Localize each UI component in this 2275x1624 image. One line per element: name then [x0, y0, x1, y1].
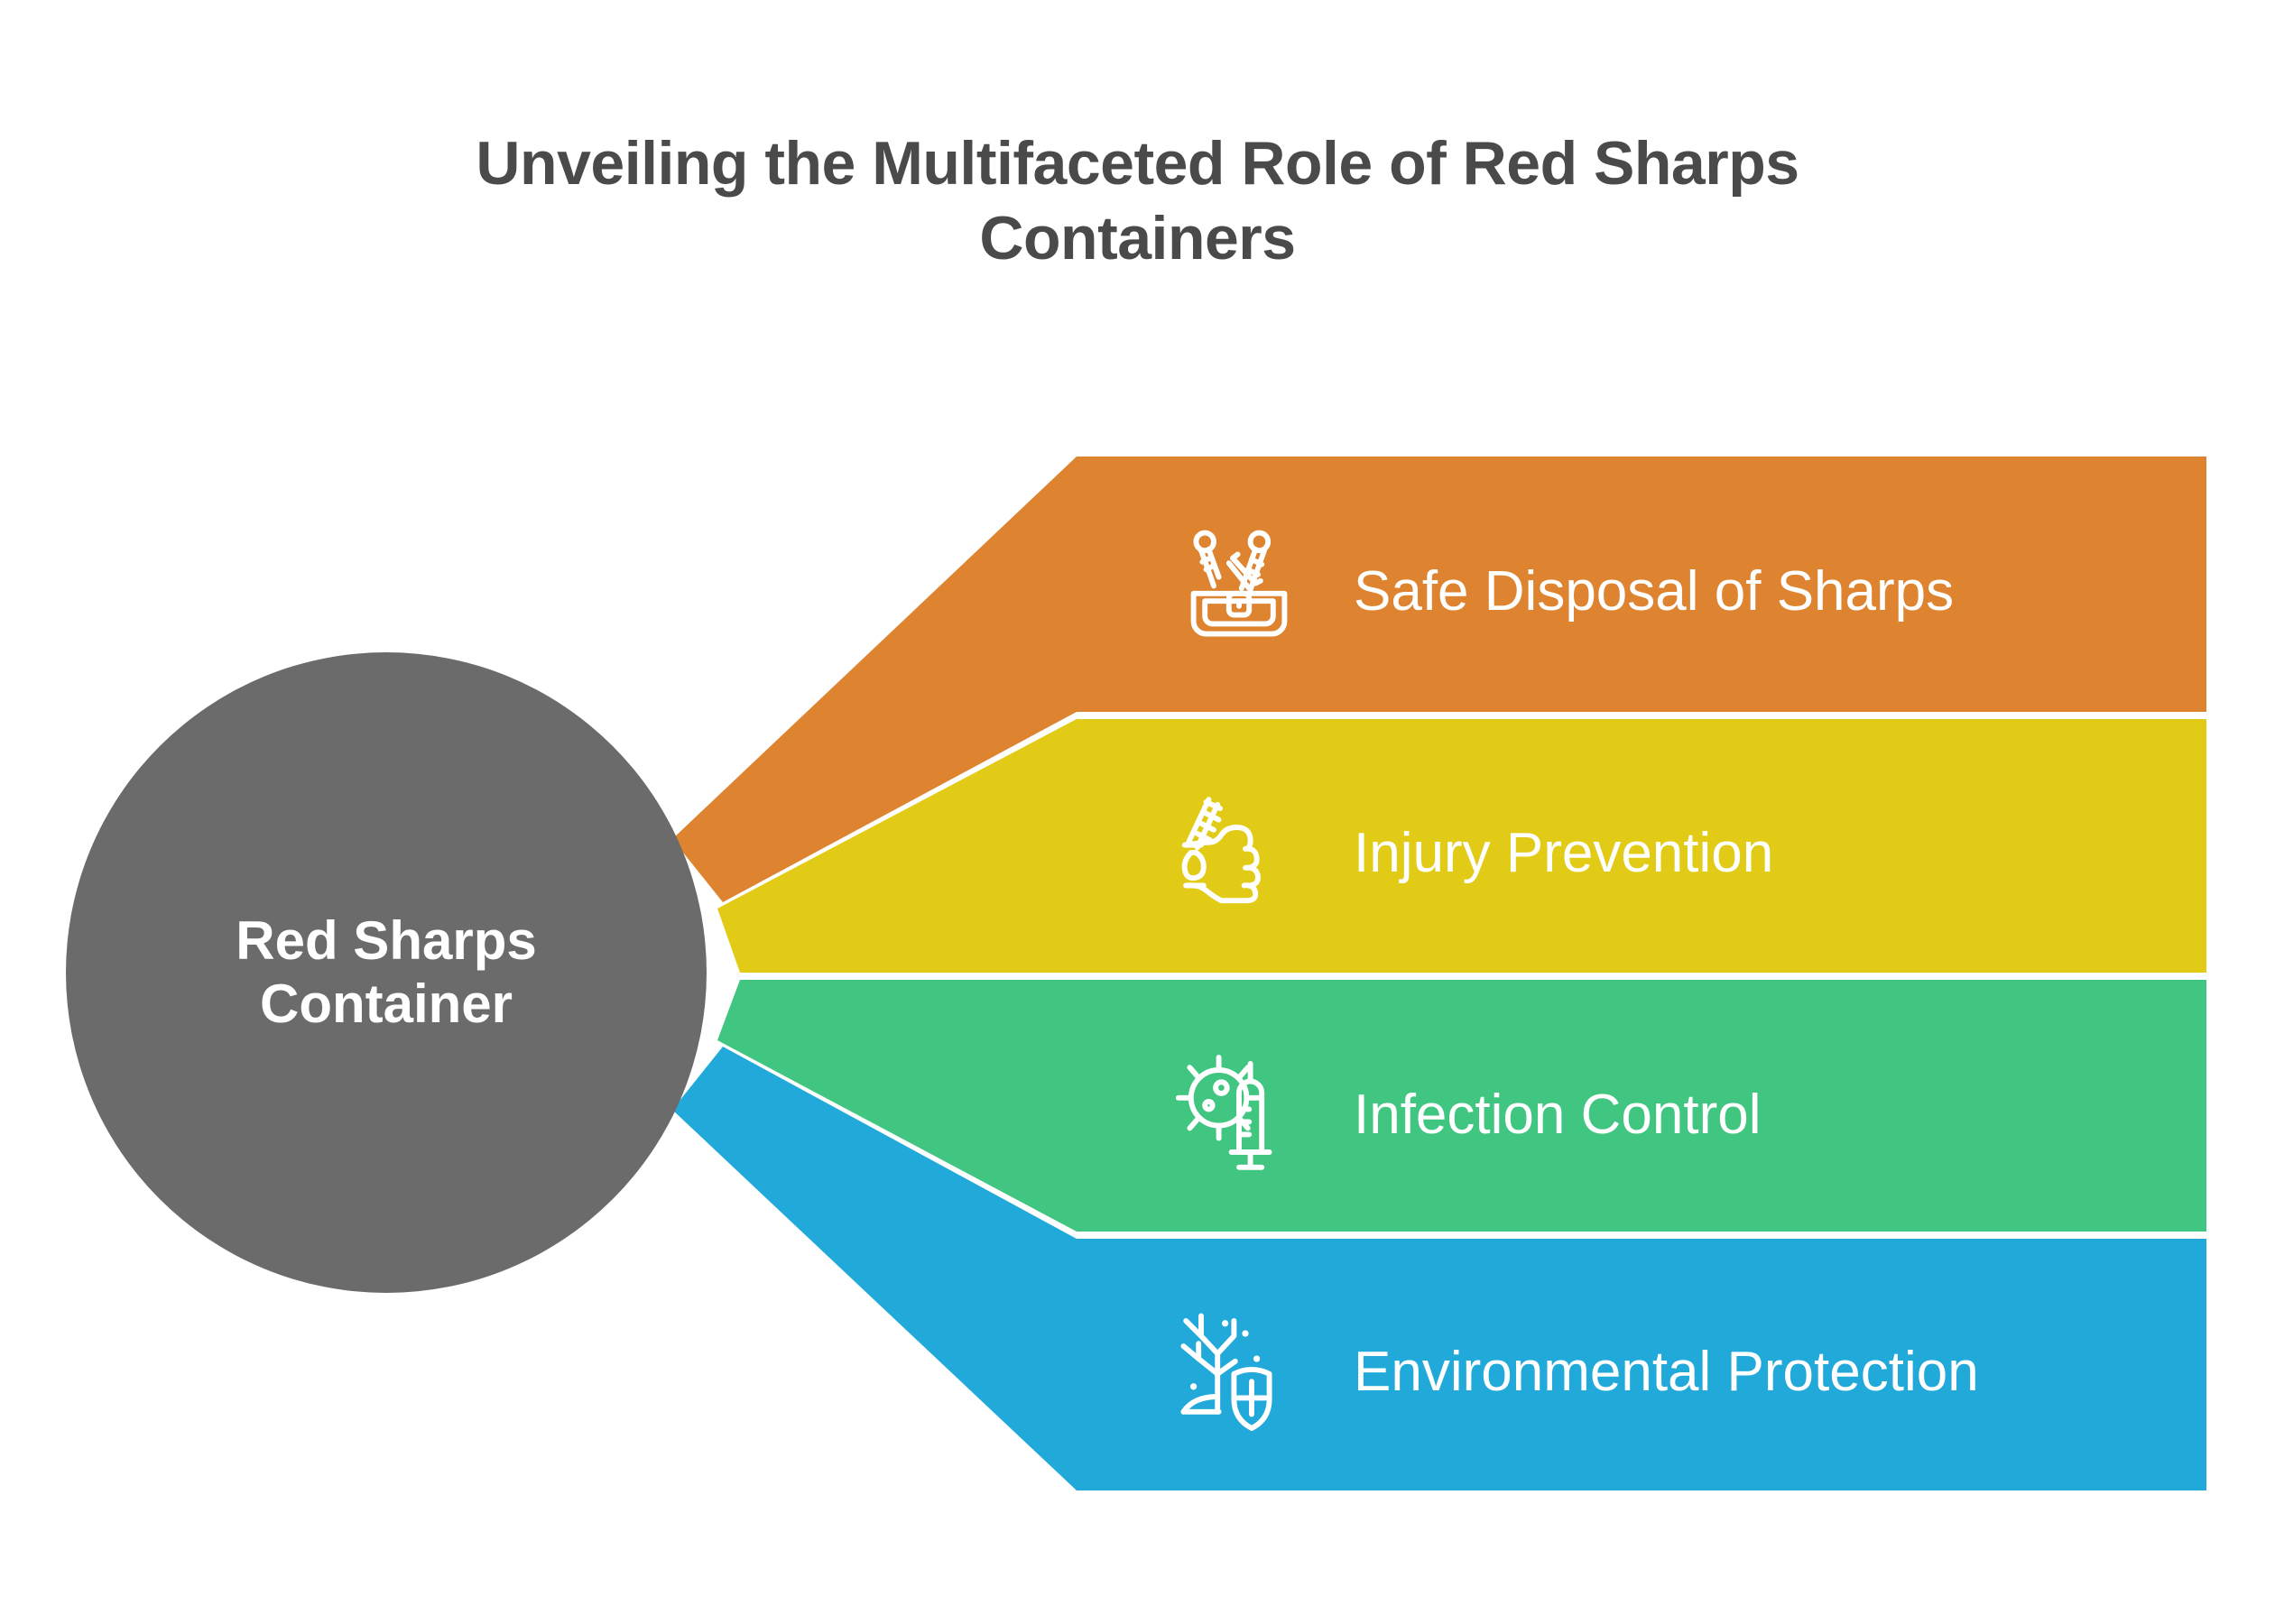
center-node-circle[interactable]: [66, 652, 707, 1293]
infographic-canvas: Unveiling the Multifaceted Role of Red S…: [0, 0, 2275, 1624]
diagram-shapes: [0, 0, 2275, 1624]
